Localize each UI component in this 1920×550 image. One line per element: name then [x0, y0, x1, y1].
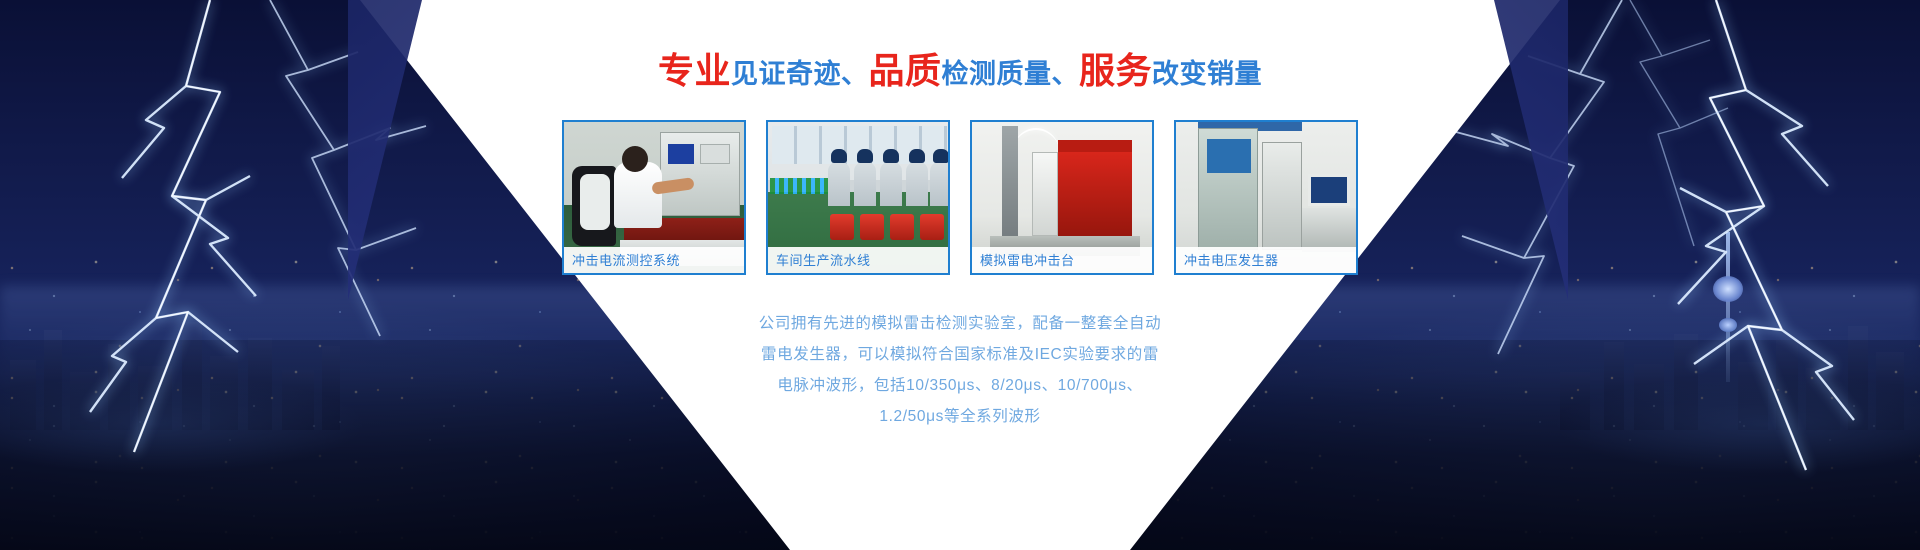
- photo-card-caption: 冲击电流测控系统: [564, 247, 744, 273]
- headline-segment-2: 见证奇迹、: [731, 59, 869, 89]
- photo-card[interactable]: 模拟雷电冲击台: [970, 120, 1154, 275]
- headline-segment-5: 服务: [1079, 50, 1152, 91]
- headline-segment-4: 检测质量、: [942, 59, 1080, 89]
- photo-card-caption: 模拟雷电冲击台: [972, 247, 1152, 273]
- photo-card[interactable]: 冲击电压发生器: [1174, 120, 1358, 275]
- photo-card-caption: 冲击电压发生器: [1176, 247, 1356, 273]
- description-line: 公司拥有先进的模拟雷击检测实验室，配备一整套全自动: [640, 308, 1280, 339]
- banner-content: 专业见证奇迹、品质检测质量、服务改变销量 冲击电流测控系统: [0, 0, 1920, 550]
- description-line: 雷电发生器，可以模拟符合国家标准及IEC实验要求的雷: [640, 339, 1280, 370]
- description-line: 1.2/50μs等全系列波形: [640, 401, 1280, 432]
- hero-banner: 专业见证奇迹、品质检测质量、服务改变销量 冲击电流测控系统: [0, 0, 1920, 550]
- headline-segment-1: 专业: [658, 50, 731, 91]
- description-line: 电脉冲波形，包括10/350μs、8/20μs、10/700μs、: [640, 370, 1280, 401]
- headline-segment-3: 品质: [868, 50, 941, 91]
- photo-card[interactable]: 车间生产流水线: [766, 120, 950, 275]
- headline-segment-6: 改变销量: [1152, 59, 1262, 89]
- photo-card[interactable]: 冲击电流测控系统: [562, 120, 746, 275]
- photo-card-caption: 车间生产流水线: [768, 247, 948, 273]
- photo-card-list: 冲击电流测控系统 车间生产流水线: [562, 120, 1358, 275]
- headline: 专业见证奇迹、品质检测质量、服务改变销量: [0, 50, 1920, 91]
- description-paragraph: 公司拥有先进的模拟雷击检测实验室，配备一整套全自动 雷电发生器，可以模拟符合国家…: [640, 308, 1280, 432]
